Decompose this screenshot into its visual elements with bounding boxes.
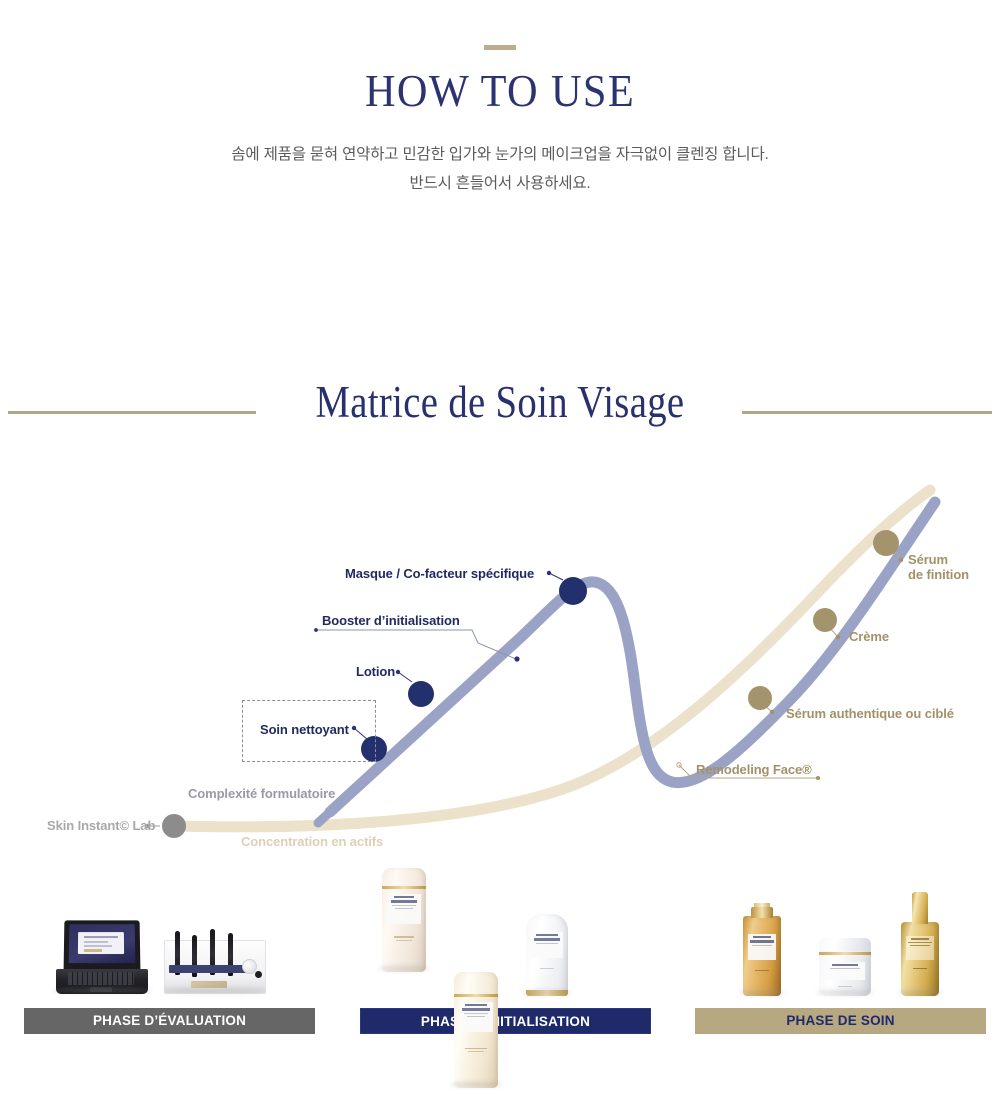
product-creme-jar bbox=[819, 948, 871, 996]
matrix-label-soin-nettoyant: Soin nettoyant bbox=[260, 722, 349, 737]
node-dot-lotion[interactable] bbox=[408, 681, 434, 707]
phase-evaluation-products bbox=[24, 880, 315, 1008]
product-serum-vial bbox=[743, 916, 781, 996]
product-lait-cleanser-bottle bbox=[382, 868, 426, 972]
phase-block-soin[interactable]: PHASE DE SOIN bbox=[695, 880, 986, 1034]
phases-section: PHASE D’ÉVALUATION bbox=[0, 880, 1000, 1045]
matrix-title: Matrice de Soin Visage bbox=[70, 376, 930, 428]
laptop-display bbox=[69, 924, 136, 963]
node-dot-creme[interactable] bbox=[813, 608, 837, 632]
laptop-keyboard bbox=[68, 972, 134, 985]
leader-dot-serum-auth bbox=[770, 710, 774, 714]
matrix-curves-svg bbox=[0, 460, 1000, 870]
curve-concentration-en-actifs bbox=[175, 490, 930, 827]
phase-bar-initialisation[interactable]: PHASE D’INITIALISATION bbox=[360, 1008, 651, 1034]
device-tray-strip bbox=[169, 965, 247, 973]
matrix-label-lotion: Lotion bbox=[356, 664, 395, 679]
header-section: HOW TO USE 솜에 제품을 묻혀 연약하고 민감한 입가와 눈가의 메이… bbox=[0, 0, 1000, 230]
laptop-dialog-window bbox=[78, 932, 124, 954]
product-skin-instant-lab-laptop bbox=[56, 920, 148, 994]
gold-bottle-neck bbox=[912, 892, 929, 924]
phase-bar-soin[interactable]: PHASE DE SOIN bbox=[695, 1008, 986, 1034]
phase-block-evaluation[interactable]: PHASE D’ÉVALUATION bbox=[24, 880, 315, 1034]
matrix-label-serum-finition: Sérum de finition bbox=[908, 552, 969, 582]
curve-complexite-formulatoire bbox=[330, 502, 935, 812]
node-dot-masque[interactable] bbox=[559, 577, 587, 605]
header-divider-dash bbox=[484, 45, 516, 50]
phase-initialisation-products bbox=[360, 880, 651, 1008]
matrix-title-band: Matrice de Soin Visage bbox=[0, 380, 1000, 446]
phase-soin-products bbox=[695, 880, 986, 1008]
matrix-label-booster: Booster d’initialisation bbox=[322, 613, 460, 628]
product-lotion-bottle bbox=[454, 972, 498, 1088]
leader-line-masque bbox=[549, 573, 563, 580]
product-probe-device-tray bbox=[164, 930, 264, 994]
matrix-label-skin-instant-lab: Skin Instant© Lab bbox=[47, 818, 155, 833]
phase-block-initialisation[interactable]: PHASE D’INITIALISATION bbox=[360, 880, 651, 1034]
laptop-screen bbox=[64, 920, 141, 969]
page-description-line-1: 솜에 제품을 묻혀 연약하고 민감한 입가와 눈가의 메이크업을 자극없이 클렌… bbox=[0, 140, 1000, 169]
leader-line-booster bbox=[316, 630, 516, 659]
node-dot-skin-instant-lab[interactable] bbox=[162, 814, 186, 838]
product-serum-finition-bottle bbox=[901, 922, 939, 996]
page-description-line-2: 반드시 흔들어서 사용하세요. bbox=[0, 169, 1000, 198]
matrix-axis-label-concentration: Concentration en actifs bbox=[241, 834, 383, 849]
phase-bar-evaluation[interactable]: PHASE D’ÉVALUATION bbox=[24, 1008, 315, 1034]
leader-line-lotion bbox=[398, 672, 412, 682]
jar-gold-band bbox=[819, 952, 871, 955]
leader-dot-lotion bbox=[396, 670, 400, 674]
page-description: 솜에 제품을 묻혀 연약하고 민감한 입가와 눈가의 메이크업을 자극없이 클렌… bbox=[0, 140, 1000, 198]
vial-cap bbox=[751, 907, 772, 918]
leader-dot-masque bbox=[547, 571, 551, 575]
matrix-label-serum-finition-line-2: de finition bbox=[908, 567, 969, 582]
matrix-label-creme: Crème bbox=[849, 629, 889, 644]
node-dot-serum-finition[interactable] bbox=[873, 530, 899, 556]
matrix-label-masque: Masque / Co-facteur spécifique bbox=[345, 566, 534, 581]
leader-dot-booster-start bbox=[314, 628, 318, 632]
leader-dot-serum-finition bbox=[899, 558, 903, 562]
leader-dot-creme bbox=[836, 635, 840, 639]
page-title: HOW TO USE bbox=[40, 66, 960, 117]
leader-dot-booster-end bbox=[514, 656, 519, 661]
matrix-label-remodeling-face: Remodeling Face® bbox=[696, 762, 812, 777]
node-dot-serum-authentique[interactable] bbox=[748, 686, 772, 710]
leader-dot-remodeling-end bbox=[816, 776, 820, 780]
matrix-label-serum-authentique: Sérum authentique ou ciblé bbox=[786, 706, 954, 721]
device-tray-logo bbox=[191, 981, 227, 988]
device-tray-body bbox=[164, 940, 266, 994]
matrix-label-serum-finition-line-1: Sérum bbox=[908, 552, 948, 567]
product-masque-tube bbox=[526, 914, 568, 996]
device-tray-dot bbox=[255, 971, 262, 978]
jar-lid bbox=[819, 938, 871, 951]
matrix-diagram: Masque / Co-facteur spécifique Booster d… bbox=[0, 460, 1000, 870]
matrix-axis-label-complexite: Complexité formulatoire bbox=[188, 786, 335, 801]
